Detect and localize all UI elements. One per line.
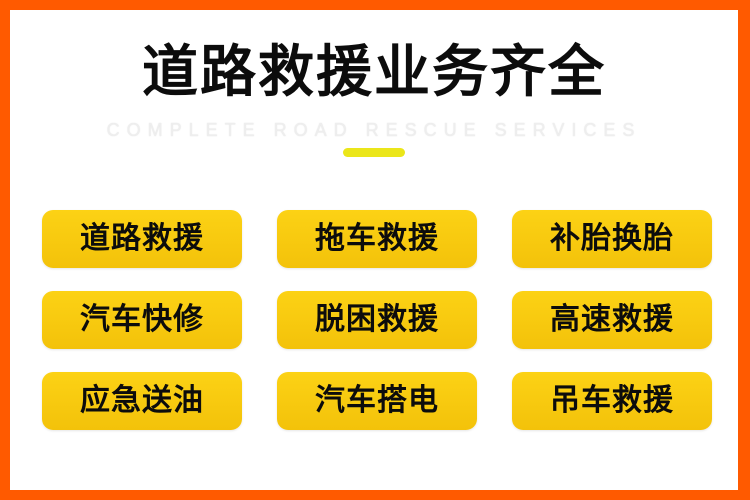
service-button-tire-repair-replace[interactable]: 补胎换胎 — [512, 210, 712, 268]
poster-frame: 道路救援业务齐全 COMPLETE ROAD RESCUE SERVICES 道… — [0, 0, 750, 500]
service-button-label: 应急送油 — [80, 384, 204, 418]
page-subtitle: COMPLETE ROAD RESCUE SERVICES — [10, 118, 738, 142]
service-button-label: 道路救援 — [80, 222, 204, 256]
service-button-label: 高速救援 — [550, 303, 674, 337]
header: 道路救援业务齐全 COMPLETE ROAD RESCUE SERVICES — [10, 10, 738, 180]
service-button-label: 脱困救援 — [315, 303, 439, 337]
service-button-label: 汽车搭电 — [315, 384, 439, 418]
poster-canvas: 道路救援业务齐全 COMPLETE ROAD RESCUE SERVICES 道… — [10, 10, 738, 490]
service-button-jump-start[interactable]: 汽车搭电 — [277, 372, 477, 430]
service-button-grid: 道路救援 拖车救援 补胎换胎 汽车快修 脱困救援 高速救援 应急送油 汽车搭电 — [42, 210, 712, 430]
service-button-road-rescue[interactable]: 道路救援 — [42, 210, 242, 268]
page-title: 道路救援业务齐全 — [10, 42, 738, 104]
service-button-tow-rescue[interactable]: 拖车救援 — [277, 210, 477, 268]
accent-divider — [343, 148, 405, 157]
service-button-label: 吊车救援 — [550, 384, 674, 418]
service-button-highway-rescue[interactable]: 高速救援 — [512, 291, 712, 349]
service-button-emergency-fuel-delivery[interactable]: 应急送油 — [42, 372, 242, 430]
service-button-quick-car-repair[interactable]: 汽车快修 — [42, 291, 242, 349]
service-button-label: 拖车救援 — [315, 222, 439, 256]
service-button-crane-rescue[interactable]: 吊车救援 — [512, 372, 712, 430]
service-button-extrication-rescue[interactable]: 脱困救援 — [277, 291, 477, 349]
service-button-label: 汽车快修 — [80, 303, 204, 337]
service-button-label: 补胎换胎 — [550, 222, 674, 256]
